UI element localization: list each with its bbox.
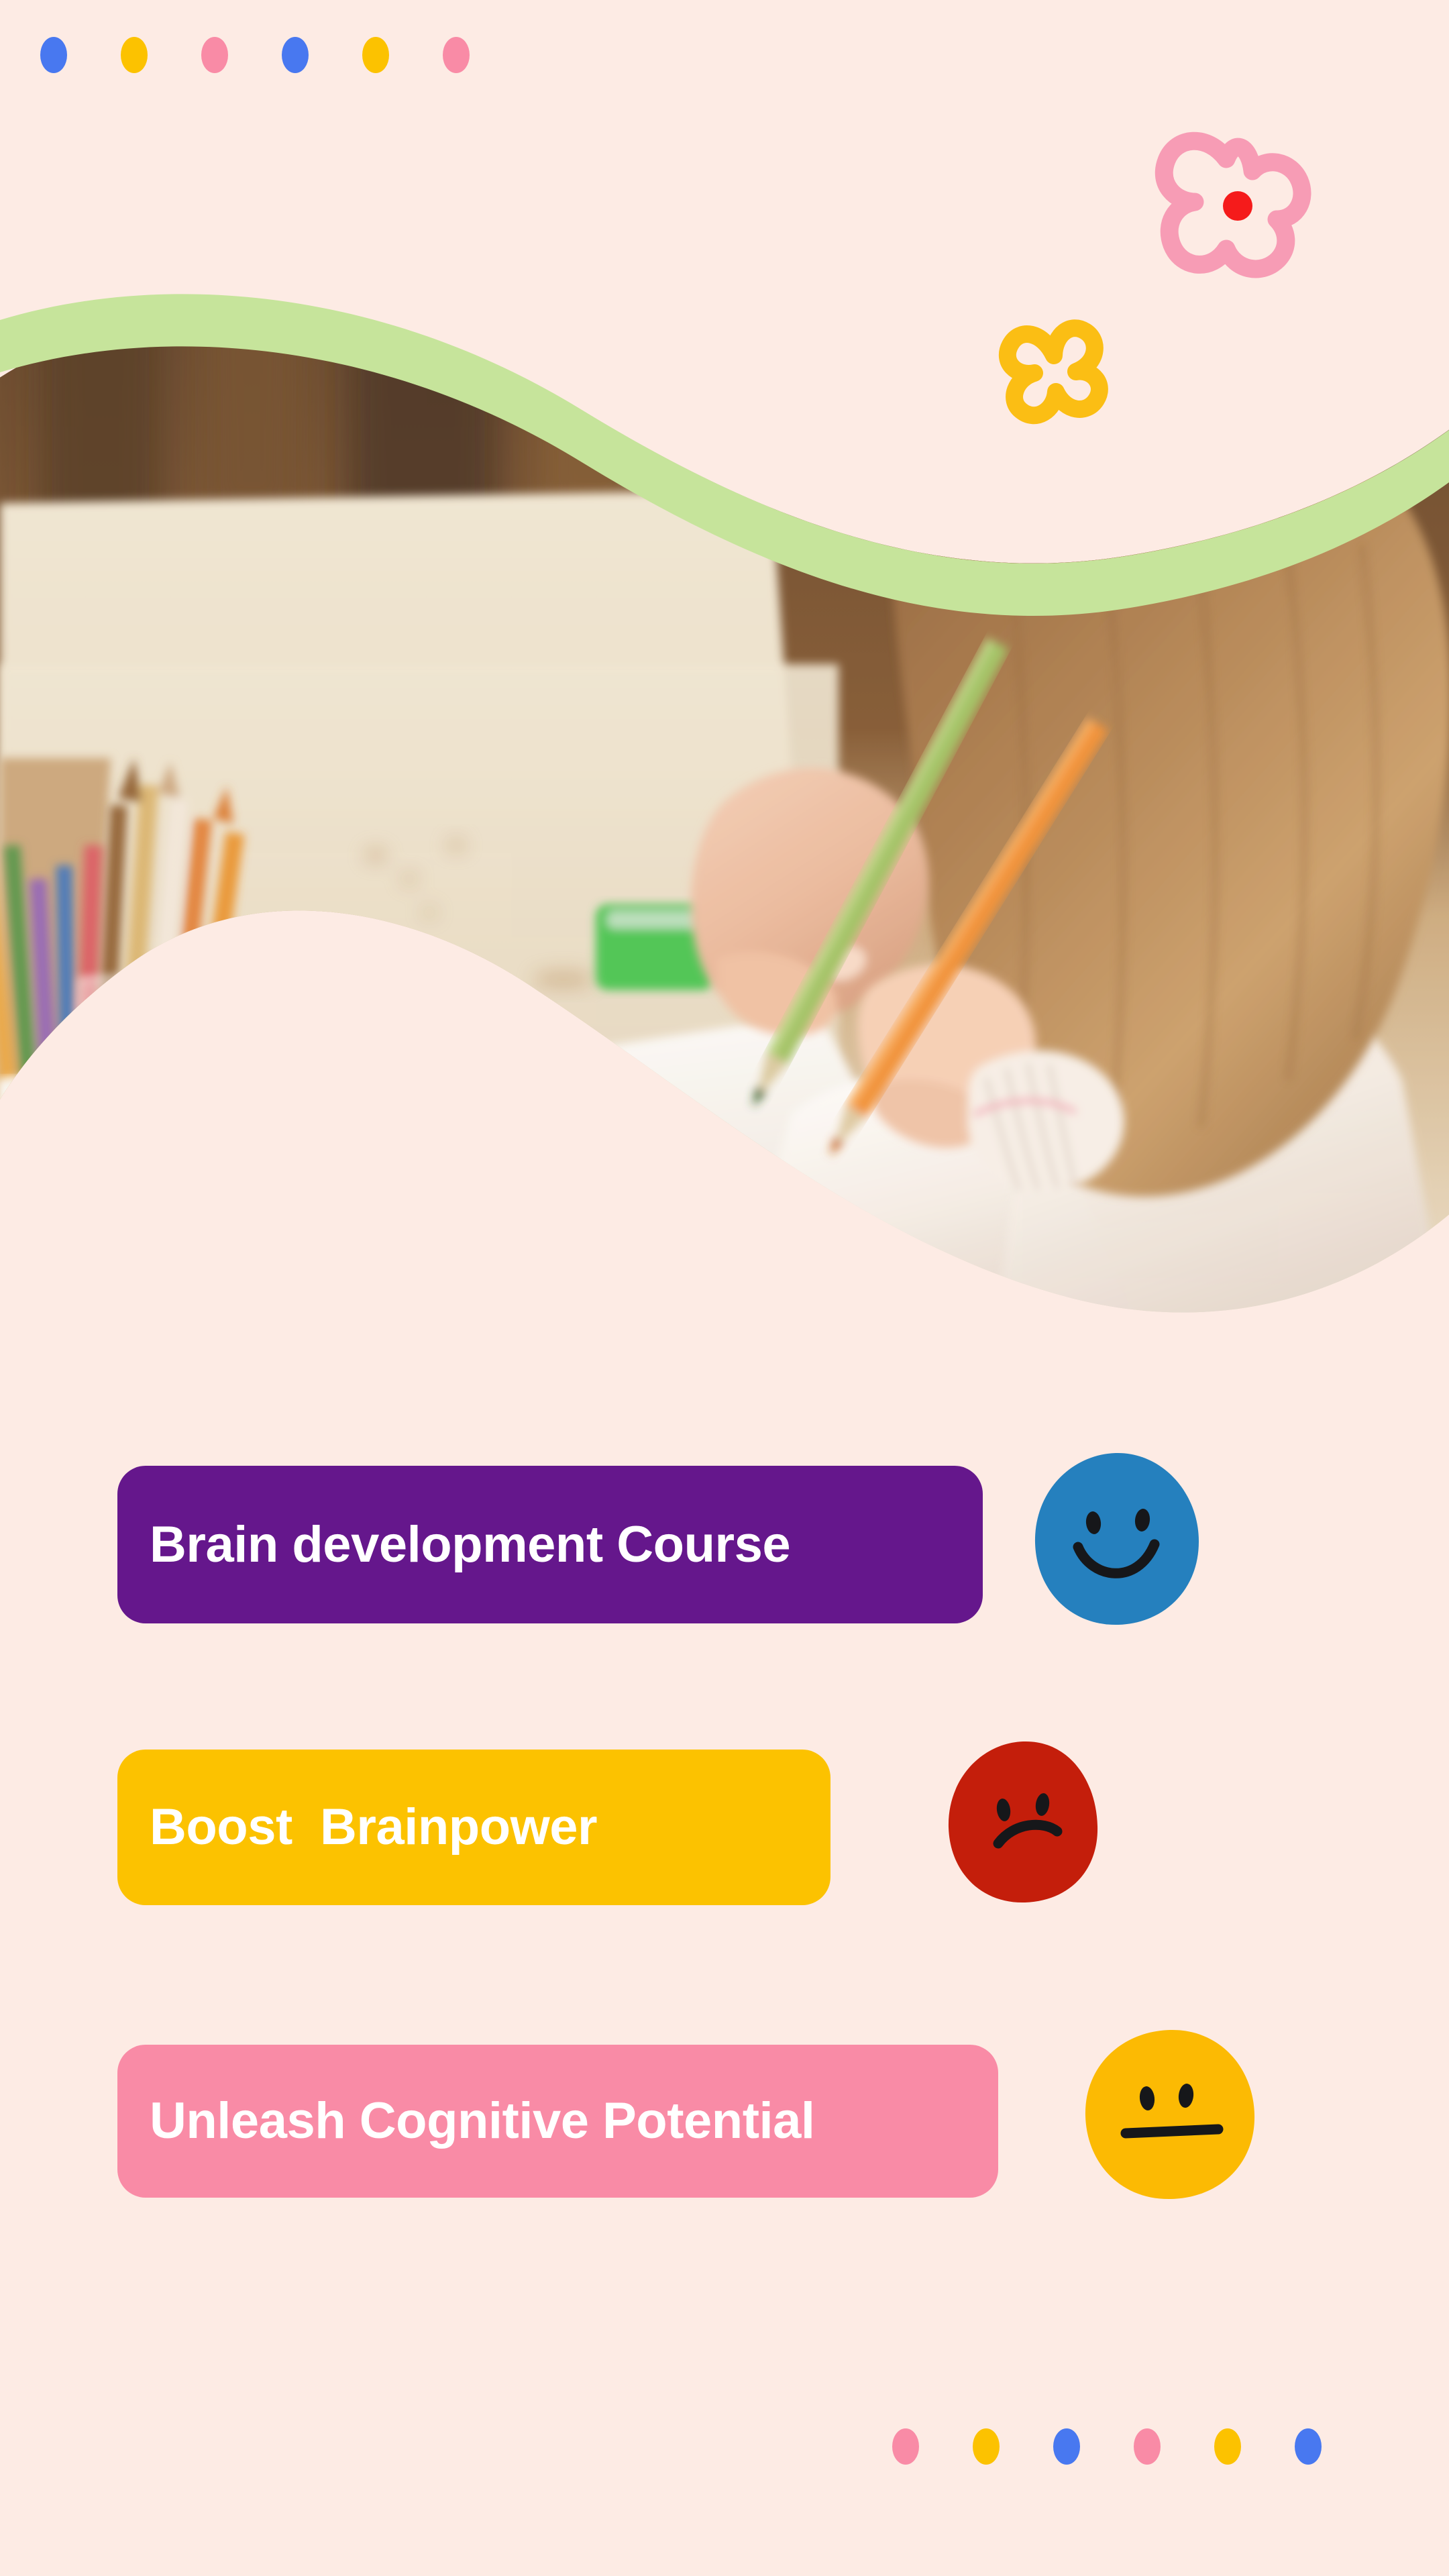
decor-dot-pink: [443, 37, 470, 73]
label-rows: Brain development Course Boost Brainpowe…: [0, 1429, 1449, 2246]
hero-photo-illustration: [0, 288, 1449, 1335]
pill-label: Boost Brainpower: [150, 1802, 597, 1853]
decor-dot-yellow: [973, 2428, 1000, 2465]
row-unleash-cognitive-potential: Unleash Cognitive Potential: [0, 2031, 1449, 2246]
decor-dot-blue: [40, 37, 67, 73]
hero-photo: [0, 288, 1449, 1335]
hero-photo-clip: [0, 288, 1449, 1335]
flower-center-dot: [1223, 191, 1252, 221]
decor-dot-yellow: [1214, 2428, 1241, 2465]
pill-label: Brain development Course: [150, 1519, 790, 1570]
decor-dot-pink: [201, 37, 228, 73]
neutral-face-yellow-icon: [1080, 2026, 1261, 2204]
pill-brain-development-course[interactable]: Brain development Course: [117, 1466, 983, 1623]
smiley-face-blue-icon: [1030, 1448, 1204, 1629]
pill-boost-brainpower[interactable]: Boost Brainpower: [117, 1750, 830, 1905]
decor-dot-yellow: [121, 37, 148, 73]
flower-pink-icon: [1137, 117, 1338, 312]
row-boost-brainpower: Boost Brainpower: [0, 1731, 1449, 1945]
decor-dot-blue: [1053, 2428, 1080, 2465]
decor-dot-pink: [892, 2428, 919, 2465]
pill-unleash-cognitive-potential[interactable]: Unleash Cognitive Potential: [117, 2045, 998, 2198]
sad-face-red-icon: [945, 1737, 1102, 1905]
top-dot-row: [40, 37, 470, 73]
decor-dot-pink: [1134, 2428, 1161, 2465]
row-brain-development-course: Brain development Course: [0, 1429, 1449, 1644]
decor-dot-yellow: [362, 37, 389, 73]
decor-dot-blue: [282, 37, 309, 73]
pill-label: Unleash Cognitive Potential: [150, 2096, 815, 2147]
bottom-dot-row: [892, 2428, 1322, 2465]
decor-dot-blue: [1295, 2428, 1322, 2465]
